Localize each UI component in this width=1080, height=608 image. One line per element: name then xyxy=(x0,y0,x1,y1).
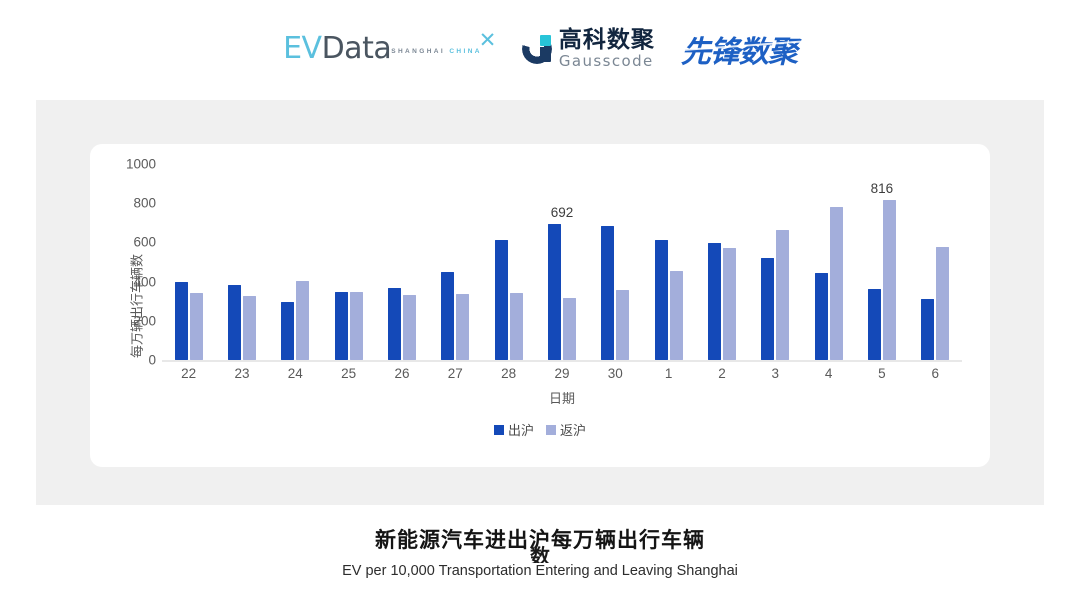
bar-group[interactable] xyxy=(695,164,748,360)
gausscode-logo: 高科数聚 Gausscode xyxy=(522,29,655,69)
legend-label: 出沪 xyxy=(508,420,534,439)
bar-返沪-3[interactable] xyxy=(776,230,789,360)
bar-出沪-23[interactable] xyxy=(228,285,241,360)
legend-item-出沪[interactable]: 出沪 xyxy=(494,420,534,439)
bar-group[interactable] xyxy=(482,164,535,360)
logo-bar: EVData ✕ SHANGHAI CHINA 高科数聚 Gausscode 先… xyxy=(0,18,1080,80)
x-axis-tick: 22 xyxy=(162,366,215,381)
bar-group[interactable]: 692 xyxy=(535,164,588,360)
bar-出沪-24[interactable] xyxy=(281,302,294,360)
bar-返沪-28[interactable] xyxy=(510,293,523,360)
y-axis-ticks: 10008006004002000 xyxy=(114,164,156,360)
y-axis-tick: 200 xyxy=(133,313,156,328)
bar-出沪-28[interactable] xyxy=(495,240,508,360)
bar-出沪-30[interactable] xyxy=(601,226,614,360)
x-axis-tick: 30 xyxy=(589,366,642,381)
caption-en-text: EV per 10,000 Transportation Entering an… xyxy=(340,563,740,579)
legend-label: 返沪 xyxy=(560,420,586,439)
x-axis-title: 日期 xyxy=(162,388,962,407)
bar-group[interactable] xyxy=(642,164,695,360)
evdata-logo: EVData ✕ SHANGHAI CHINA xyxy=(283,34,496,64)
xianfeng-logo: 先锋数聚 xyxy=(681,27,797,71)
x-axis-line xyxy=(162,360,962,362)
x-axis-tick: 6 xyxy=(909,366,962,381)
bar-出沪-22[interactable] xyxy=(175,282,188,360)
x-axis-ticks: 222324252627282930123456 xyxy=(162,366,962,381)
bar-返沪-6[interactable] xyxy=(936,247,949,360)
x-axis-tick: 27 xyxy=(429,366,482,381)
bar-返沪-2[interactable] xyxy=(723,248,736,360)
x-axis-tick: 23 xyxy=(215,366,268,381)
x-axis-tick: 5 xyxy=(855,366,908,381)
y-axis-tick: 0 xyxy=(148,353,156,368)
evdata-tagline-country: CHINA xyxy=(449,48,482,55)
bar-出沪-6[interactable] xyxy=(921,299,934,360)
bar-出沪-5[interactable] xyxy=(868,289,881,360)
evdata-x-icon: ✕ xyxy=(479,30,496,51)
bar-group[interactable] xyxy=(802,164,855,360)
evdata-data-text: Data xyxy=(322,31,392,66)
evdata-tagline: SHANGHAI CHINA xyxy=(391,48,482,55)
bar-返沪-27[interactable] xyxy=(456,294,469,360)
bar-返沪-5[interactable] xyxy=(883,200,896,360)
x-axis-tick: 4 xyxy=(802,366,855,381)
bar-返沪-29[interactable] xyxy=(563,298,576,360)
bar-返沪-24[interactable] xyxy=(296,281,309,360)
bar-group[interactable] xyxy=(322,164,375,360)
bar-group[interactable] xyxy=(429,164,482,360)
legend-item-返沪[interactable]: 返沪 xyxy=(546,420,586,439)
bar-出沪-4[interactable] xyxy=(815,273,828,360)
chart-card: 每万辆出行车辆数 10008006004002000 692816 222324… xyxy=(90,144,990,467)
x-axis-tick: 3 xyxy=(749,366,802,381)
evdata-tagline-city: SHANGHAI xyxy=(391,48,445,55)
bar-返沪-26[interactable] xyxy=(403,295,416,360)
plot-area: 692816 xyxy=(162,164,962,360)
y-axis-tick: 800 xyxy=(133,196,156,211)
x-axis-tick: 1 xyxy=(642,366,695,381)
y-axis-tick: 1000 xyxy=(126,157,156,172)
bar-出沪-27[interactable] xyxy=(441,272,454,360)
bar-返沪-1[interactable] xyxy=(670,271,683,360)
evdata-wordmark: EVData ✕ xyxy=(283,34,391,64)
bar-group[interactable] xyxy=(375,164,428,360)
bar-出沪-26[interactable] xyxy=(388,288,401,360)
chart-legend: 出沪返沪 xyxy=(90,420,990,439)
bar-返沪-23[interactable] xyxy=(243,296,256,360)
bar-出沪-25[interactable] xyxy=(335,292,348,360)
bar-出沪-29[interactable] xyxy=(548,224,561,360)
caption-block: 新能源汽车进出沪每万辆出行车辆 数 EV per 10,000 Transpor… xyxy=(0,524,1080,579)
gausscode-cn-text: 高科数聚 xyxy=(559,29,655,52)
bar-groups: 692816 xyxy=(162,164,962,360)
slide-root: EVData ✕ SHANGHAI CHINA 高科数聚 Gausscode 先… xyxy=(0,0,1080,608)
bar-group[interactable] xyxy=(589,164,642,360)
bar-出沪-2[interactable] xyxy=(708,243,721,360)
bar-group[interactable] xyxy=(269,164,322,360)
caption-title-en: EV per 10,000 Transportation Entering an… xyxy=(0,563,1080,579)
x-axis-tick: 26 xyxy=(375,366,428,381)
y-axis-tick: 400 xyxy=(133,274,156,289)
bar-返沪-4[interactable] xyxy=(830,207,843,360)
bar-value-label: 692 xyxy=(551,205,574,220)
x-axis-tick: 29 xyxy=(535,366,588,381)
bar-返沪-25[interactable] xyxy=(350,292,363,360)
legend-swatch-icon xyxy=(494,425,504,435)
x-axis-tick: 2 xyxy=(695,366,748,381)
chart-panel: 每万辆出行车辆数 10008006004002000 692816 222324… xyxy=(36,100,1044,505)
x-axis-tick: 24 xyxy=(269,366,322,381)
evdata-ev-text: EV xyxy=(283,31,321,66)
x-axis-tick: 25 xyxy=(322,366,375,381)
bar-value-label: 816 xyxy=(871,181,894,196)
bar-出沪-1[interactable] xyxy=(655,240,668,360)
bar-group[interactable] xyxy=(215,164,268,360)
gausscode-en-text: Gausscode xyxy=(559,54,655,69)
bar-group[interactable] xyxy=(162,164,215,360)
bar-出沪-3[interactable] xyxy=(761,258,774,360)
bar-group[interactable] xyxy=(749,164,802,360)
gausscode-mark-icon xyxy=(522,34,552,64)
bar-返沪-22[interactable] xyxy=(190,293,203,360)
x-axis-tick: 28 xyxy=(482,366,535,381)
y-axis-tick: 600 xyxy=(133,235,156,250)
bar-返沪-30[interactable] xyxy=(616,290,629,360)
bar-chart: 每万辆出行车辆数 10008006004002000 692816 222324… xyxy=(90,144,990,467)
legend-swatch-icon xyxy=(546,425,556,435)
bar-group[interactable]: 816 xyxy=(855,164,908,360)
bar-group[interactable] xyxy=(909,164,962,360)
